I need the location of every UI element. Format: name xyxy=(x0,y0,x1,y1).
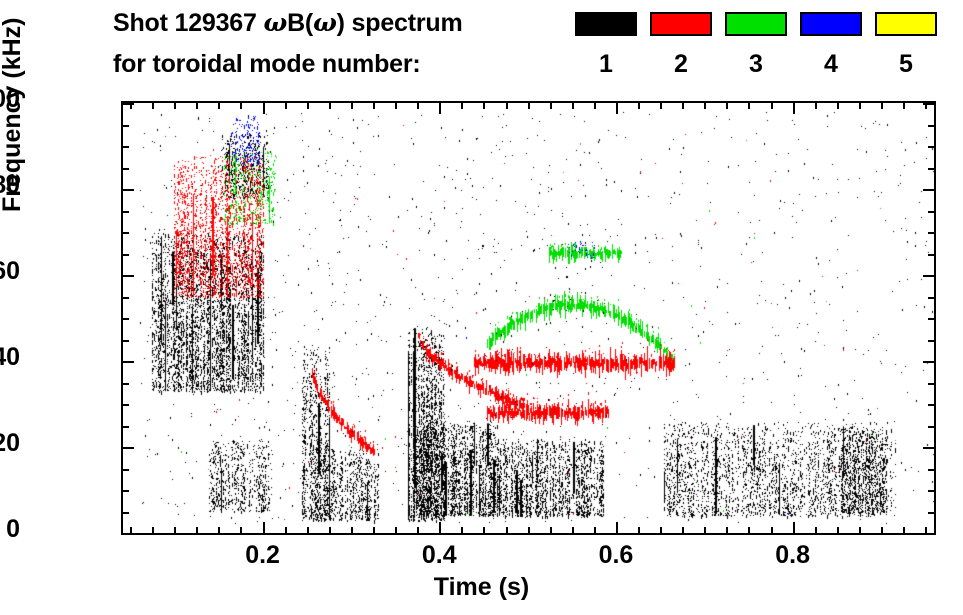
y-tick-100 xyxy=(123,103,134,105)
y-tick-35 xyxy=(123,383,129,385)
y-tick-label-80: 80 xyxy=(0,173,20,198)
legend-swatch-4 xyxy=(800,12,862,36)
x-tick-0.850 xyxy=(837,527,839,533)
x-tick-0.350 xyxy=(395,527,397,533)
x-tick-top-0.400 xyxy=(439,103,441,114)
plot-area xyxy=(121,101,936,535)
x-tick-top-0.925 xyxy=(903,103,905,109)
y-tick-right-25 xyxy=(928,426,934,428)
figure-header: Shot 129367 ωB(ω) spectrum for toroidal … xyxy=(0,0,963,96)
x-tick-0.800 xyxy=(793,522,795,533)
x-tick-top-0.150 xyxy=(218,103,220,109)
x-tick-0.300 xyxy=(351,527,353,533)
x-tick-0.400 xyxy=(439,522,441,533)
x-tick-top-0.500 xyxy=(528,103,530,109)
y-tick-right-15 xyxy=(928,469,934,471)
legend-label-1: 1 xyxy=(575,50,637,79)
spectrogram-canvas-wrap xyxy=(123,103,934,533)
y-tick-60 xyxy=(123,275,134,277)
x-tick-0.175 xyxy=(240,527,242,533)
x-tick-top-0.200 xyxy=(263,103,265,114)
y-tick-65 xyxy=(123,254,129,256)
figure-title-line1: Shot 129367 ωB(ω) spectrum xyxy=(113,8,462,38)
title-text-post: ) spectrum xyxy=(337,9,463,37)
figure-title-line2: for toroidal mode number: xyxy=(113,50,421,79)
y-tick-0 xyxy=(123,533,134,535)
x-tick-top-0.750 xyxy=(748,103,750,109)
x-tick-0.550 xyxy=(572,527,574,533)
y-tick-right-75 xyxy=(928,211,934,213)
legend: 1 2 3 4 5 xyxy=(575,0,963,96)
x-tick-0.150 xyxy=(218,527,220,533)
legend-swatch-1 xyxy=(575,12,637,36)
x-tick-0.950 xyxy=(925,527,927,533)
x-tick-0.875 xyxy=(859,527,861,533)
x-tick-top-0.825 xyxy=(815,103,817,109)
y-tick-25 xyxy=(123,426,129,428)
x-tick-top-0.125 xyxy=(196,103,198,109)
x-tick-0.525 xyxy=(550,527,552,533)
x-tick-top-0.675 xyxy=(682,103,684,109)
x-tick-top-0.725 xyxy=(726,103,728,109)
title-text-mid: B( xyxy=(287,9,313,37)
x-tick-top-0.550 xyxy=(572,103,574,109)
x-tick-0.700 xyxy=(704,527,706,533)
y-tick-right-40 xyxy=(923,361,934,363)
x-tick-top-0.325 xyxy=(373,103,375,109)
legend-swatch-3 xyxy=(725,12,787,36)
y-tick-10 xyxy=(123,490,129,492)
y-tick-right-80 xyxy=(923,189,934,191)
y-tick-90 xyxy=(123,146,129,148)
omega-symbol-2: ω xyxy=(313,8,337,37)
y-tick-15 xyxy=(123,469,129,471)
x-tick-top-0.525 xyxy=(550,103,552,109)
x-tick-top-0.100 xyxy=(174,103,176,109)
y-tick-95 xyxy=(123,125,129,127)
omega-symbol-1: ω xyxy=(263,8,287,37)
x-tick-0.925 xyxy=(903,527,905,533)
x-tick-top-0.075 xyxy=(152,103,154,109)
y-tick-right-85 xyxy=(928,168,934,170)
y-tick-label-20: 20 xyxy=(0,431,20,456)
x-tick-0.575 xyxy=(594,527,596,533)
x-tick-top-0.775 xyxy=(771,103,773,109)
legend-label-2: 2 xyxy=(650,50,712,79)
x-tick-top-0.850 xyxy=(837,103,839,109)
x-tick-top-0.950 xyxy=(925,103,927,109)
y-tick-40 xyxy=(123,361,134,363)
x-tick-top-0.275 xyxy=(329,103,331,109)
x-tick-0.475 xyxy=(506,527,508,533)
x-tick-0.275 xyxy=(329,527,331,533)
x-tick-top-0.600 xyxy=(616,103,618,114)
y-tick-45 xyxy=(123,340,129,342)
y-tick-75 xyxy=(123,211,129,213)
y-tick-right-45 xyxy=(928,340,934,342)
y-tick-right-70 xyxy=(928,232,934,234)
x-tick-label-0.4: 0.4 xyxy=(394,541,484,570)
legend-swatch-2 xyxy=(650,12,712,36)
y-tick-right-50 xyxy=(928,318,934,320)
y-tick-20 xyxy=(123,447,134,449)
y-tick-right-5 xyxy=(928,512,934,514)
y-tick-label-0: 0 xyxy=(0,517,20,542)
x-tick-top-0.425 xyxy=(461,103,463,109)
x-axis-title: Time (s) xyxy=(0,573,963,602)
title-text-pre: Shot 129367 xyxy=(113,9,263,37)
x-tick-0.100 xyxy=(174,527,176,533)
y-tick-right-90 xyxy=(928,146,934,148)
x-tick-0.775 xyxy=(771,527,773,533)
x-tick-0.325 xyxy=(373,527,375,533)
x-tick-0.200 xyxy=(263,522,265,533)
x-tick-0.250 xyxy=(307,527,309,533)
legend-label-3: 3 xyxy=(725,50,787,79)
x-tick-0.500 xyxy=(528,527,530,533)
x-tick-top-0.475 xyxy=(506,103,508,109)
y-tick-right-65 xyxy=(928,254,934,256)
x-tick-top-0.175 xyxy=(240,103,242,109)
x-tick-0.050 xyxy=(130,527,132,533)
y-tick-right-10 xyxy=(928,490,934,492)
x-tick-0.900 xyxy=(881,527,883,533)
x-tick-top-0.800 xyxy=(793,103,795,114)
x-tick-top-0.375 xyxy=(417,103,419,109)
y-tick-label-60: 60 xyxy=(0,259,20,284)
y-tick-85 xyxy=(123,168,129,170)
y-tick-80 xyxy=(123,189,134,191)
x-tick-label-0.6: 0.6 xyxy=(571,541,661,570)
x-tick-0.125 xyxy=(196,527,198,533)
x-tick-top-0.900 xyxy=(881,103,883,109)
x-tick-0.825 xyxy=(815,527,817,533)
y-tick-50 xyxy=(123,318,129,320)
spectrogram-canvas xyxy=(123,103,934,533)
x-tick-0.600 xyxy=(616,522,618,533)
y-tick-right-30 xyxy=(928,404,934,406)
x-tick-top-0.875 xyxy=(859,103,861,109)
x-tick-top-0.050 xyxy=(130,103,132,109)
x-tick-0.075 xyxy=(152,527,154,533)
x-tick-label-0.2: 0.2 xyxy=(218,541,308,570)
x-tick-0.625 xyxy=(638,527,640,533)
y-tick-5 xyxy=(123,512,129,514)
x-tick-top-0.700 xyxy=(704,103,706,109)
x-tick-0.375 xyxy=(417,527,419,533)
x-tick-top-0.350 xyxy=(395,103,397,109)
x-tick-top-0.250 xyxy=(307,103,309,109)
x-tick-top-0.225 xyxy=(285,103,287,109)
y-tick-right-20 xyxy=(923,447,934,449)
x-tick-0.650 xyxy=(660,527,662,533)
spectrogram-figure: Shot 129367 ωB(ω) spectrum for toroidal … xyxy=(0,0,963,615)
y-tick-label-40: 40 xyxy=(0,345,20,370)
legend-swatch-5 xyxy=(875,12,937,36)
x-tick-top-0.575 xyxy=(594,103,596,109)
x-tick-top-0.650 xyxy=(660,103,662,109)
x-tick-0.750 xyxy=(748,527,750,533)
y-tick-label-100: 100 xyxy=(0,87,20,112)
x-tick-0.225 xyxy=(285,527,287,533)
y-tick-right-0 xyxy=(923,533,934,535)
x-tick-label-0.8: 0.8 xyxy=(748,541,838,570)
x-tick-0.450 xyxy=(483,527,485,533)
x-tick-top-0.450 xyxy=(483,103,485,109)
x-tick-top-0.300 xyxy=(351,103,353,109)
legend-label-4: 4 xyxy=(800,50,862,79)
y-tick-30 xyxy=(123,404,129,406)
y-tick-right-55 xyxy=(928,297,934,299)
x-tick-0.675 xyxy=(682,527,684,533)
y-tick-right-95 xyxy=(928,125,934,127)
y-tick-right-60 xyxy=(923,275,934,277)
legend-label-5: 5 xyxy=(875,50,937,79)
y-tick-right-35 xyxy=(928,383,934,385)
x-tick-0.425 xyxy=(461,527,463,533)
y-tick-55 xyxy=(123,297,129,299)
y-tick-70 xyxy=(123,232,129,234)
x-tick-0.725 xyxy=(726,527,728,533)
x-tick-top-0.625 xyxy=(638,103,640,109)
